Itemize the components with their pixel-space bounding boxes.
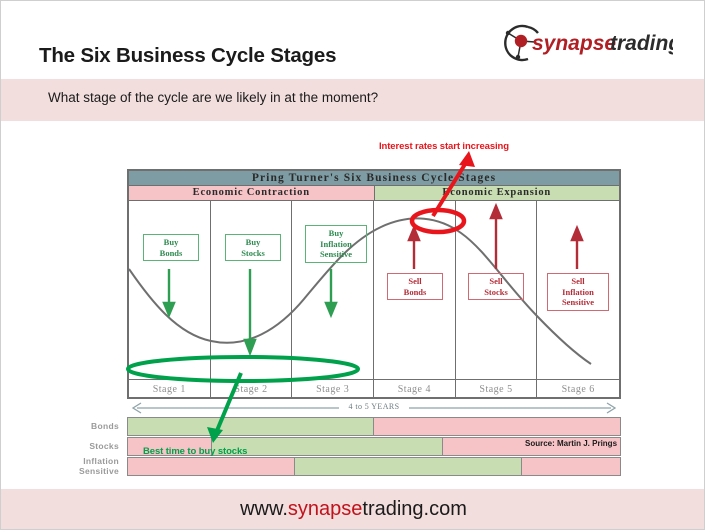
stage-label-3: Stage 3 xyxy=(292,380,374,399)
asset-label-bonds: Bonds xyxy=(91,422,119,432)
stage-label-6: Stage 6 xyxy=(537,380,619,399)
stage-label-row: Stage 1 Stage 2 Stage 3 Stage 4 Stage 5 … xyxy=(129,379,619,399)
action-line: Buy Inflation Sensitive xyxy=(306,228,366,260)
stage-label-4: Stage 4 xyxy=(374,380,456,399)
subtitle-text: What stage of the cycle are we likely in… xyxy=(48,90,378,105)
phase-economic-expansion: Economic Expansion xyxy=(375,186,620,200)
svg-text:trading: trading xyxy=(610,32,673,55)
chart-plot-area: Buy Bonds Buy Stocks Buy Inflation Sensi… xyxy=(129,201,619,379)
stage-label-1: Stage 1 xyxy=(129,380,211,399)
synapsetrading-logo: synapse trading xyxy=(488,19,673,67)
segment-bearish xyxy=(522,458,620,475)
asset-label-inflation-sensitive: Inflation Sensitive xyxy=(1,457,119,476)
segment-bearish xyxy=(128,458,295,475)
action-line: Buy Stocks xyxy=(226,237,280,258)
asset-label-line-1: Inflation xyxy=(83,456,119,466)
action-line: Sell Bonds xyxy=(388,276,442,297)
action-line: Buy Bonds xyxy=(144,237,198,258)
footer-brand: synapse xyxy=(288,498,363,520)
annotation-interest-rates: Interest rates start increasing xyxy=(379,141,509,152)
asset-bar-inflation-sensitive xyxy=(127,457,621,476)
action-box-sell-stocks: Sell Stocks xyxy=(468,273,524,300)
figure-area: Pring Turner's Six Business Cycle Stages… xyxy=(1,121,705,471)
action-box-sell-inflation-sensitive: Sell Inflation Sensitive xyxy=(547,273,609,311)
asset-label-stocks: Stocks xyxy=(89,442,119,452)
footer-prefix: www. xyxy=(240,498,288,520)
footer-suffix: trading.com xyxy=(362,498,467,520)
cycle-wave-svg xyxy=(129,201,619,379)
chart-title: Pring Turner's Six Business Cycle Stages xyxy=(129,171,619,186)
slide-footer: www.synapsetrading.com xyxy=(1,489,705,530)
business-cycle-chart: Pring Turner's Six Business Cycle Stages… xyxy=(127,169,621,399)
page-title: The Six Business Cycle Stages xyxy=(39,44,336,68)
action-line: Sell Stocks xyxy=(469,276,523,297)
segment-bullish xyxy=(128,418,374,435)
slide-header: The Six Business Cycle Stages synapse tr… xyxy=(1,1,705,79)
annotation-best-time-buy-stocks: Best time to buy stocks xyxy=(143,446,247,457)
asset-label-line-2: Sensitive xyxy=(79,466,119,476)
phase-row: Economic Contraction Economic Expansion xyxy=(129,186,619,201)
action-box-sell-bonds: Sell Bonds xyxy=(387,273,443,300)
action-line: Sell Inflation Sensitive xyxy=(548,276,608,308)
action-box-buy-stocks: Buy Stocks xyxy=(225,234,281,261)
source-credit: Source: Martin J. Prings xyxy=(525,439,617,448)
action-box-buy-inflation-sensitive: Buy Inflation Sensitive xyxy=(305,225,367,263)
asset-bar-labels: Bonds Stocks Inflation Sensitive xyxy=(1,417,123,481)
asset-bar-bonds xyxy=(127,417,621,436)
segment-bullish xyxy=(295,458,521,475)
segment-bearish xyxy=(374,418,620,435)
phase-economic-contraction: Economic Contraction xyxy=(129,186,375,200)
red-arrow-head xyxy=(459,151,475,167)
svg-text:synapse: synapse xyxy=(532,32,616,55)
action-box-buy-bonds: Buy Bonds xyxy=(143,234,199,261)
stage-label-5: Stage 5 xyxy=(456,380,538,399)
duration-label: 4 to 5 YEARS xyxy=(339,402,409,411)
duration-axis: 4 to 5 YEARS xyxy=(127,401,621,415)
footer-website: www.synapsetrading.com xyxy=(1,498,705,521)
stage-label-2: Stage 2 xyxy=(211,380,293,399)
slide: The Six Business Cycle Stages synapse tr… xyxy=(0,0,705,530)
subtitle-band: What stage of the cycle are we likely in… xyxy=(1,79,705,121)
